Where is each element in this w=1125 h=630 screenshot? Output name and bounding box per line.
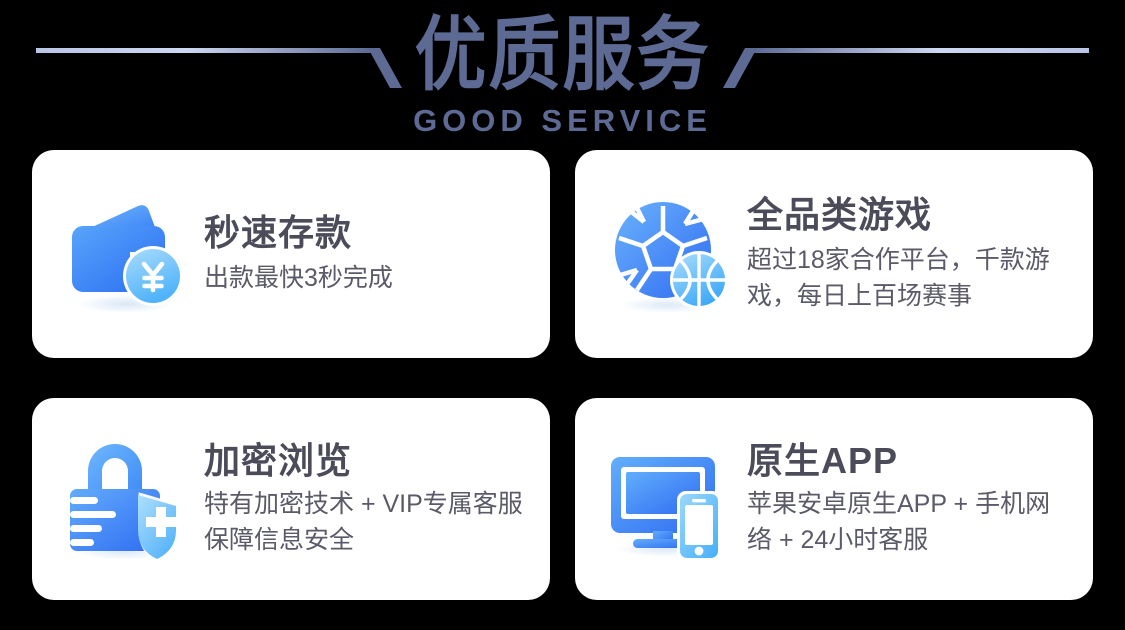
wallet-yen-icon: [60, 188, 192, 320]
feature-card-native-app[interactable]: 原生APP 苹果安卓原生APP + 手机网络 + 24小时客服: [575, 398, 1093, 600]
page-header: 优质服务 GOOD SERVICE: [0, 0, 1125, 150]
card-description: 特有加密技术 + VIP专属客服保障信息安全: [204, 486, 524, 558]
page-subtitle: GOOD SERVICE: [413, 104, 712, 138]
card-text: 秒速存款 出款最快3秒完成: [204, 212, 524, 296]
feature-card-deposit[interactable]: 秒速存款 出款最快3秒完成: [32, 150, 550, 358]
feature-card-encryption[interactable]: 加密浏览 特有加密技术 + VIP专属客服保障信息安全: [32, 398, 550, 600]
page-title: 优质服务: [414, 12, 710, 99]
title-block: 优质服务 GOOD SERVICE: [0, 0, 1125, 138]
feature-card-games[interactable]: 全品类游戏 超过18家合作平台，千款游戏，每日上百场赛事: [575, 150, 1093, 358]
card-description: 出款最快3秒完成: [204, 260, 524, 296]
card-description: 苹果安卓原生APP + 手机网络 + 24小时客服: [747, 486, 1067, 558]
card-title: 秒速存款: [204, 212, 524, 254]
card-title: 原生APP: [747, 440, 1067, 482]
card-text: 全品类游戏 超过18家合作平台，千款游戏，每日上百场赛事: [747, 194, 1067, 314]
card-description: 超过18家合作平台，千款游戏，每日上百场赛事: [747, 242, 1067, 314]
soccer-basketball-icon: [603, 188, 735, 320]
card-text: 原生APP 苹果安卓原生APP + 手机网络 + 24小时客服: [747, 440, 1067, 558]
card-text: 加密浏览 特有加密技术 + VIP专属客服保障信息安全: [204, 440, 524, 558]
feature-card-grid: 秒速存款 出款最快3秒完成: [32, 150, 1093, 600]
monitor-phone-icon: [603, 433, 735, 565]
promo-page: 优质服务 GOOD SERVICE: [0, 0, 1125, 630]
card-title: 全品类游戏: [747, 194, 1067, 236]
card-title: 加密浏览: [204, 440, 524, 482]
lock-shield-icon: [60, 433, 192, 565]
